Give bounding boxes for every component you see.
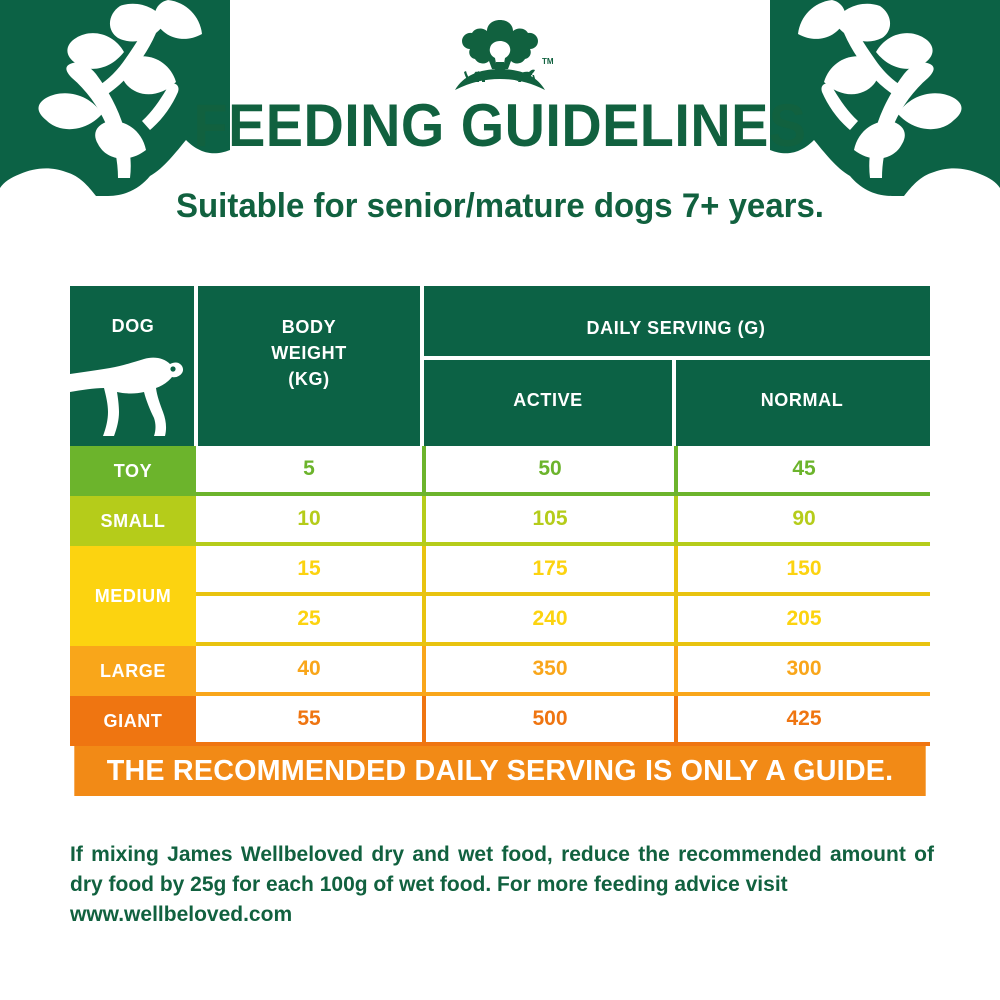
header-divider-vertical-2 — [420, 286, 424, 446]
column-header-dog: DOG — [70, 316, 196, 337]
cell-normal-giant: 425 — [674, 696, 930, 746]
row-label-large: LARGE — [70, 646, 196, 696]
column-header-body-weight: BODY WEIGHT (KG) — [196, 314, 422, 392]
column-header-active: ACTIVE — [422, 390, 674, 411]
cell-weight-medium-1: 15 — [196, 546, 422, 596]
cell-normal-medium-2: 205 — [674, 596, 930, 646]
header-divider-vertical-3 — [672, 358, 676, 446]
header-divider-horizontal — [422, 356, 930, 360]
row-label-medium: MEDIUM — [70, 546, 196, 646]
cell-weight-large: 40 — [196, 646, 422, 696]
body-weight-line-1: BODY — [196, 314, 422, 340]
page-subtitle: Suitable for senior/mature dogs 7+ years… — [15, 186, 985, 226]
cell-normal-medium-1: 150 — [674, 546, 930, 596]
trademark-mark: TM — [542, 57, 554, 66]
body-weight-line-3: (KG) — [196, 366, 422, 392]
table-row: GIANT 55 500 425 — [70, 696, 930, 746]
cell-active-giant: 500 — [422, 696, 674, 746]
column-header-daily-serving: DAILY SERVING (G) — [422, 318, 930, 339]
table-row: 25 240 205 — [196, 596, 930, 646]
table-row: 15 175 150 — [196, 546, 930, 596]
cell-normal-large: 300 — [674, 646, 930, 696]
cell-normal-toy: 45 — [674, 446, 930, 496]
guide-disclaimer-banner: THE RECOMMENDED DAILY SERVING IS ONLY A … — [74, 746, 925, 796]
james-wellbeloved-tree-logo: TM — [445, 12, 555, 94]
cell-weight-medium-2: 25 — [196, 596, 422, 646]
row-label-small: SMALL — [70, 496, 196, 546]
cell-weight-small: 10 — [196, 496, 422, 546]
table-row: SMALL 10 105 90 — [70, 496, 930, 546]
note-line-1: If mixing James Wellbeloved dry and wet … — [70, 843, 906, 866]
table-row: LARGE 40 350 300 — [70, 646, 930, 696]
mixing-advice-note: If mixing James Wellbeloved dry and wet … — [70, 840, 934, 930]
cell-normal-small: 90 — [674, 496, 930, 546]
table-row-group-medium: MEDIUM 15 175 150 25 240 205 — [70, 546, 930, 646]
dog-silhouette-icon — [70, 342, 196, 446]
table-row: TOY 5 50 45 — [70, 446, 930, 496]
row-label-toy: TOY — [70, 446, 196, 496]
cell-weight-toy: 5 — [196, 446, 422, 496]
cell-active-medium-1: 175 — [422, 546, 674, 596]
feeding-guidelines-table: DOG BODY WEIGHT (KG) DAILY SERVING (G) A… — [70, 286, 930, 746]
column-header-normal: NORMAL — [674, 390, 930, 411]
page-title: FEEDING GUIDELINES — [35, 96, 965, 156]
cell-active-toy: 50 — [422, 446, 674, 496]
cell-active-large: 350 — [422, 646, 674, 696]
cell-active-medium-2: 240 — [422, 596, 674, 646]
row-label-giant: GIANT — [70, 696, 196, 746]
body-weight-line-2: WEIGHT — [196, 340, 422, 366]
cell-weight-giant: 55 — [196, 696, 422, 746]
note-website: www.wellbeloved.com — [70, 900, 934, 930]
table-header: DOG BODY WEIGHT (KG) DAILY SERVING (G) A… — [70, 286, 930, 446]
cell-active-small: 105 — [422, 496, 674, 546]
